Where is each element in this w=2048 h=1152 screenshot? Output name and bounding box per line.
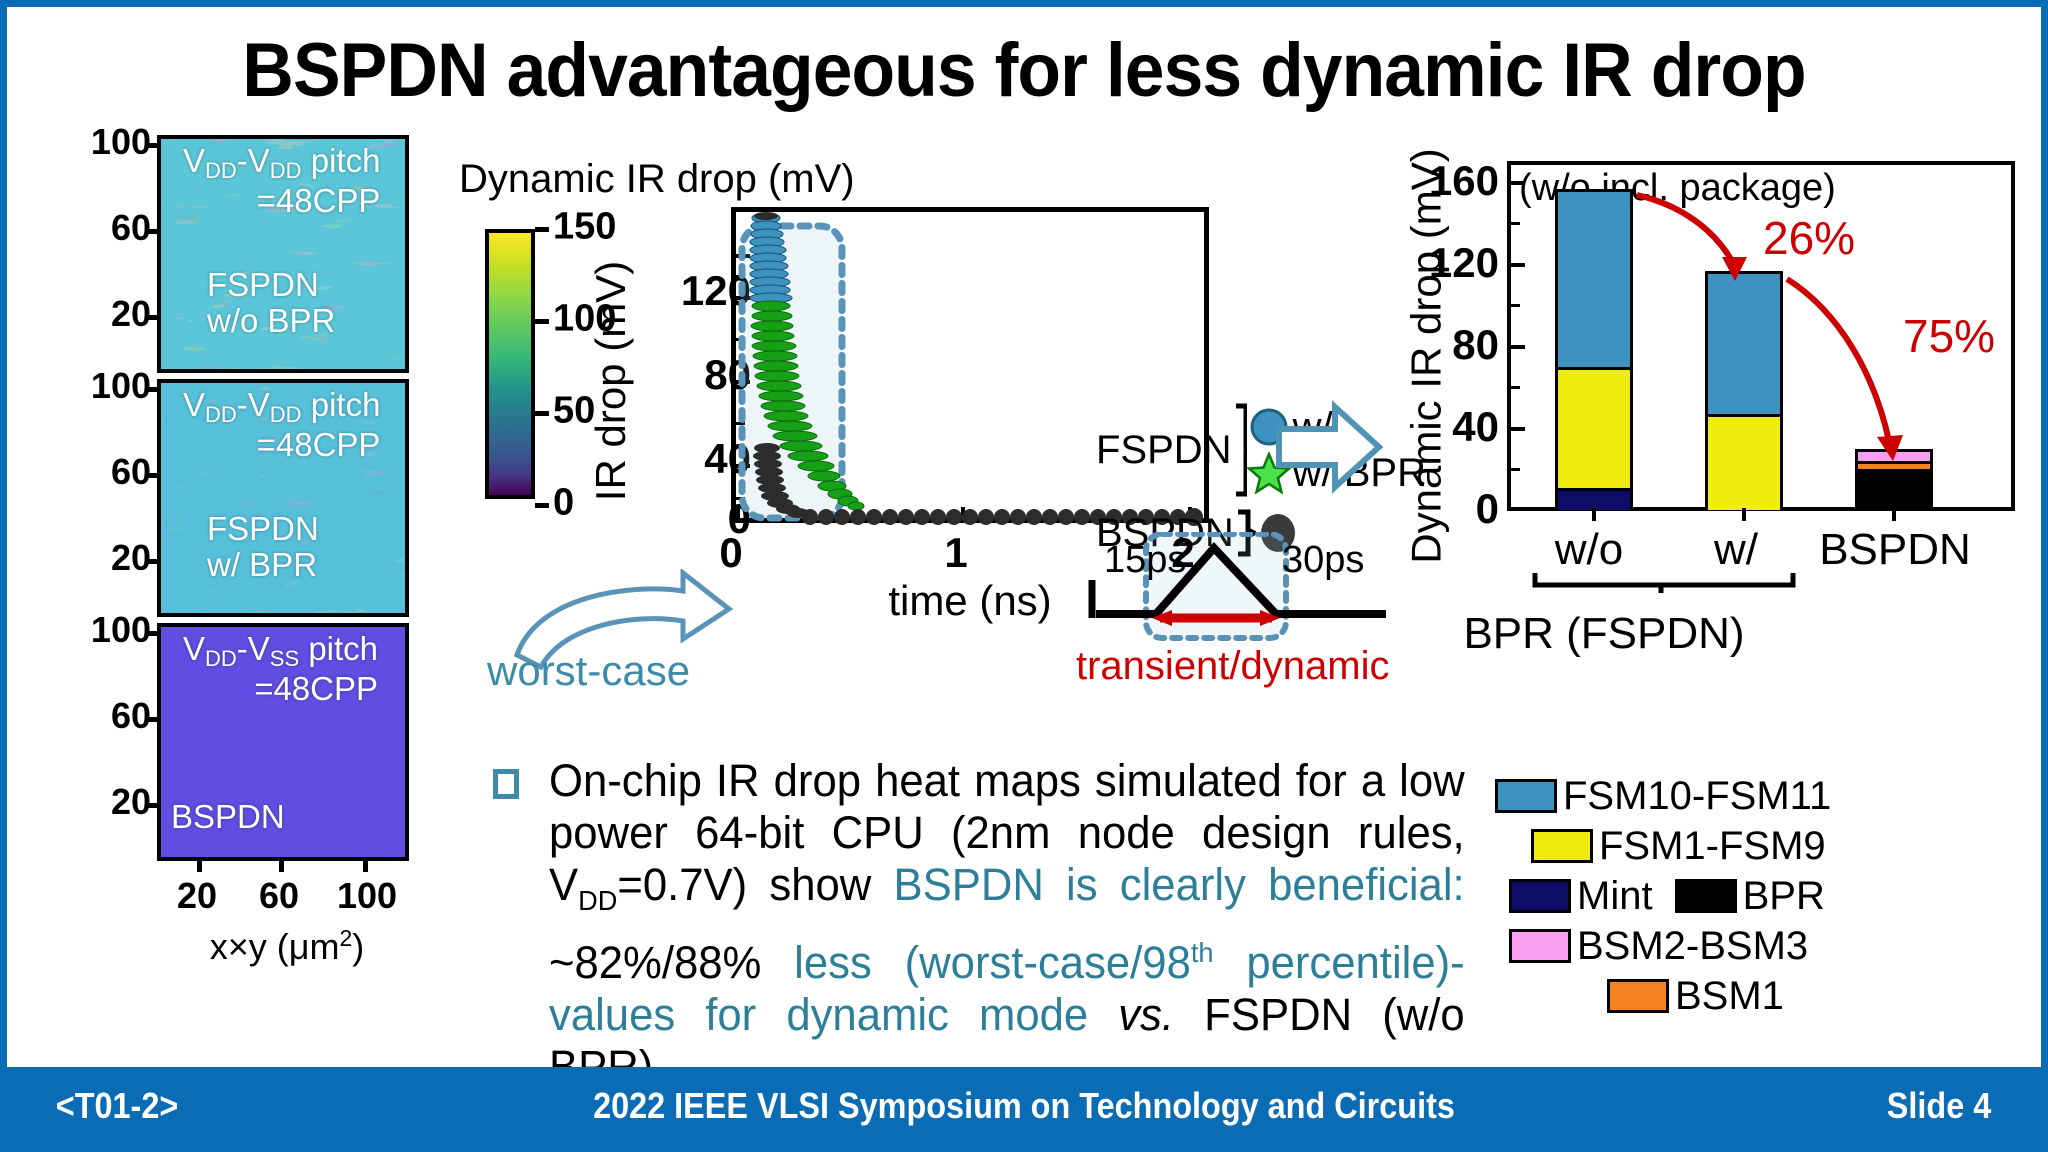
heatmap-ytick-20-b: 20 [71, 537, 151, 579]
heatmap-xtickmark-20 [197, 857, 202, 872]
footer-conference-name: 2022 IEEE VLSI Symposium on Technology a… [109, 1085, 1940, 1127]
heatmap-panel-fspdn-wo-bpr: VDD-VDD pitch =48CPP FSPDN w/o BPR [157, 135, 409, 373]
heatmap-xtick-20: 20 [177, 875, 217, 917]
legend-text-fsm10-fsm11: FSM10-FSM11 [1563, 774, 1831, 819]
bar-chart-group-label: BPR (FSPDN) [1389, 609, 1819, 659]
heatmap-2-pitch-line2: =48CPP [183, 427, 380, 463]
heatmap-xtickmark-100 [363, 857, 368, 872]
heatmap-xtickmark-60 [279, 857, 284, 872]
legend-swatch-bpr [1675, 879, 1737, 913]
slide-footer: <T01-2> 2022 IEEE VLSI Symposium on Tech… [7, 1067, 2041, 1145]
bar-chart-xtick-w: w/ [1714, 525, 1758, 575]
colorbar-tick-0: 0 [553, 482, 574, 525]
heatmap-2-pitch-label: VDD-VDD pitch =48CPP [183, 387, 380, 463]
square-bullet-icon [493, 769, 519, 799]
heatmap-image-3: VDD-VSS pitch =48CPP BSPDN [157, 623, 409, 861]
bc-ytm-80 [1511, 345, 1525, 349]
body-seg-4: ~82%/88% [549, 937, 761, 988]
bar-chart-ytick-40: 40 [1452, 403, 1499, 451]
heatmap-panel-bspdn: VDD-VSS pitch =48CPP BSPDN [157, 623, 409, 861]
bar-wo-seg-fsm10-fsm11 [1558, 192, 1630, 370]
legend-row-mint-bpr: Mint BPR [1495, 873, 2035, 919]
heatmap-ytick-20-a: 20 [71, 293, 151, 335]
legend-swatch-mint [1509, 879, 1571, 913]
colorbar-title: Dynamic IR drop (mV) [459, 157, 855, 202]
heatmap-3-pitch-line2: =48CPP [183, 671, 378, 707]
line-chart-plot-area: FSPDN w/o [731, 207, 1209, 523]
bar-bspdn [1855, 449, 1933, 507]
heatmap-panel-group: VDD-VDD pitch =48CPP FSPDN w/o BPR [69, 135, 409, 1015]
bc-ytm-20 [1511, 468, 1520, 471]
heatmap-3-name: BSPDN [171, 799, 285, 835]
heatmap-image-2: VDD-VDD pitch =48CPP FSPDN w/ BPR [157, 379, 409, 617]
colorbar: 150 100 50 0 [485, 229, 535, 499]
bar-wo-seg-fsm1-fsm9 [1558, 370, 1630, 491]
legend-text-fsm1-fsm9: FSM1-FSM9 [1599, 824, 1826, 869]
legend-text-mint: Mint [1577, 874, 1653, 919]
pulse-fall-label: 30ps [1282, 539, 1364, 581]
heatmap-1-pitch-line2: =48CPP [183, 183, 380, 219]
heatmap-1-pitch-label: VDD-VDD pitch =48CPP [183, 143, 380, 219]
heatmap-2-name: FSPDN w/ BPR [207, 511, 319, 583]
slide-root: BSPDN advantageous for less dynamic IR d… [0, 0, 2048, 1152]
bar-bspdn-seg-bsm2-bsm3 [1858, 452, 1930, 464]
heatmap-3-pitch-label: VDD-VSS pitch =48CPP [183, 631, 378, 707]
heatmap-ytick-60-b: 60 [71, 451, 151, 493]
colorbar-tickmark-100 [535, 319, 549, 324]
bc-ytm-160 [1511, 181, 1525, 185]
brace-icon-fspdn [1232, 402, 1247, 498]
bar-chart-xtick-wo: w/o [1555, 525, 1623, 575]
heatmap-1-name: FSPDN w/o BPR [207, 267, 335, 339]
bar-bspdn-seg-bsm1 [1858, 464, 1930, 472]
bar-chart-ytick-160: 160 [1429, 157, 1499, 205]
bar-chart-ytick-0: 0 [1476, 485, 1499, 533]
body-seg-8: vs. [1118, 989, 1174, 1040]
heatmap-panel-fspdn-w-bpr: VDD-VDD pitch =48CPP FSPDN w/ BPR [157, 379, 409, 617]
legend-text-bsm2-bsm3: BSM2-BSM3 [1577, 924, 1808, 969]
group-brace-icon [1531, 571, 1801, 595]
bar-w-bpr [1705, 271, 1783, 507]
colorbar-gradient [485, 229, 535, 499]
bc-ytm-100 [1511, 304, 1520, 307]
reduction-label-26: 26% [1763, 211, 1855, 265]
heatmap-ytickmark-b1 [145, 387, 161, 392]
line-chart-xlabel: time (ns) [731, 577, 1209, 625]
bar-w-seg-fsm1-fsm9 [1708, 417, 1780, 510]
legend-swatch-bsm2-bsm3 [1509, 929, 1571, 963]
heatmap-ytick-60-a: 60 [71, 207, 151, 249]
bar-chart-ytick-80: 80 [1452, 321, 1499, 369]
legend-text-bsm1: BSM1 [1675, 974, 1784, 1019]
heatmap-image-1: VDD-VDD pitch =48CPP FSPDN w/o BPR [157, 135, 409, 373]
heatmap-xtick-60: 60 [259, 875, 299, 917]
bar-bspdn-seg-bpr [1858, 472, 1930, 510]
legend-swatch-fsm1-fsm9 [1531, 829, 1593, 863]
heatmap-ytickmark-c2 [145, 717, 161, 722]
line-chart-ylabel: IR drop (mV) [587, 261, 635, 501]
reduction-label-75: 75% [1903, 309, 1995, 363]
line-chart-xtick-2: 2 [1171, 529, 1194, 577]
bar-w-seg-fsm10-fsm11 [1708, 274, 1780, 417]
bar-chart-legend: FSM10-FSM11 FSM1-FSM9 Mint BPR BSM2-BSM3… [1495, 773, 2035, 1023]
colorbar-tickmark-0 [535, 503, 549, 508]
bar-chart-plot-area: (w/o incl. package) [1507, 161, 2015, 511]
footer-slide-number: Slide 4 [1887, 1085, 1991, 1127]
bc-ytm-140 [1511, 222, 1520, 225]
heatmap-ytick-100-b: 100 [71, 365, 151, 407]
body-seg-5: less (worst-case/98 [761, 937, 1191, 988]
bc-ytm-60 [1511, 386, 1520, 389]
line-chart-xtick-1: 1 [944, 529, 967, 577]
heatmap-xtick-100: 100 [337, 875, 397, 917]
legend-row-bsm2-bsm3: BSM2-BSM3 [1495, 923, 2035, 969]
bc-ytm-120 [1511, 263, 1525, 267]
legend-swatch-bsm1 [1607, 979, 1669, 1013]
colorbar-tick-150: 150 [553, 206, 616, 249]
line-chart: IR drop (mV) 120 80 40 0 [643, 207, 1323, 607]
body-paragraph: On-chip IR drop heat maps simulated for … [549, 755, 1465, 1093]
heatmap-ytick-60-c: 60 [71, 695, 151, 737]
heatmap-ytickmark-b2 [145, 473, 161, 478]
body-text-block: On-chip IR drop heat maps simulated for … [493, 755, 1493, 1093]
body-seg-2: =0.7V) show [617, 859, 893, 910]
bar-chart-ylabel: Dynamic IR drop (mV) [1403, 148, 1451, 563]
heatmap-ytickmark-c1 [145, 631, 161, 636]
heatmap-xaxis-title: x×y (μm2) [157, 925, 417, 968]
body-seg-3: BSPDN is clearly beneficial: [893, 859, 1464, 910]
legend-row-fsm10-fsm11: FSM10-FSM11 [1495, 773, 2035, 819]
heatmap-xaxis: 20 60 100 [157, 873, 409, 933]
bar-chart: Dynamic IR drop (mV) 160 120 80 40 0 (w/… [1389, 147, 2029, 627]
transient-dynamic-caption: transient/dynamic [1076, 644, 1389, 689]
heatmap-ytickmark-c3 [145, 803, 161, 808]
flow-arrow-icon [1275, 399, 1383, 495]
body-seg-1: DD [578, 885, 617, 916]
bc-xtm-bspdn [1892, 508, 1896, 521]
colorbar-tickmark-150 [535, 227, 549, 232]
heatmap-ytickmark-a3 [145, 315, 161, 320]
colorbar-tickmark-50 [535, 411, 549, 416]
bc-xtm-w [1742, 508, 1746, 521]
heatmap-ytick-100-a: 100 [71, 121, 151, 163]
legend-row-fsm1-fsm9: FSM1-FSM9 [1495, 823, 2035, 869]
heatmap-ytickmark-b3 [145, 559, 161, 564]
bar-wo-bpr [1555, 189, 1633, 507]
body-seg-6: th [1191, 937, 1214, 968]
legend-row-bsm1: BSM1 [1495, 973, 2035, 1019]
heatmap-ytickmark-a2 [145, 229, 161, 234]
legend-text-bpr: BPR [1743, 874, 1825, 919]
bc-ytm-40 [1511, 427, 1525, 431]
bc-xtm-wo [1592, 508, 1596, 521]
bar-chart-ytick-120: 120 [1429, 239, 1499, 287]
heatmap-ytick-20-c: 20 [71, 781, 151, 823]
bar-chart-xtick-bspdn: BSPDN [1819, 525, 1971, 575]
heatmap-ytick-100-c: 100 [71, 609, 151, 651]
legend-group-fspdn-label: FSPDN [1096, 428, 1232, 473]
page-title: BSPDN advantageous for less dynamic IR d… [68, 29, 1980, 113]
legend-swatch-fsm10-fsm11 [1495, 779, 1557, 813]
worst-case-label: worst-case [487, 647, 690, 695]
heatmap-ytickmark-a1 [145, 143, 161, 148]
